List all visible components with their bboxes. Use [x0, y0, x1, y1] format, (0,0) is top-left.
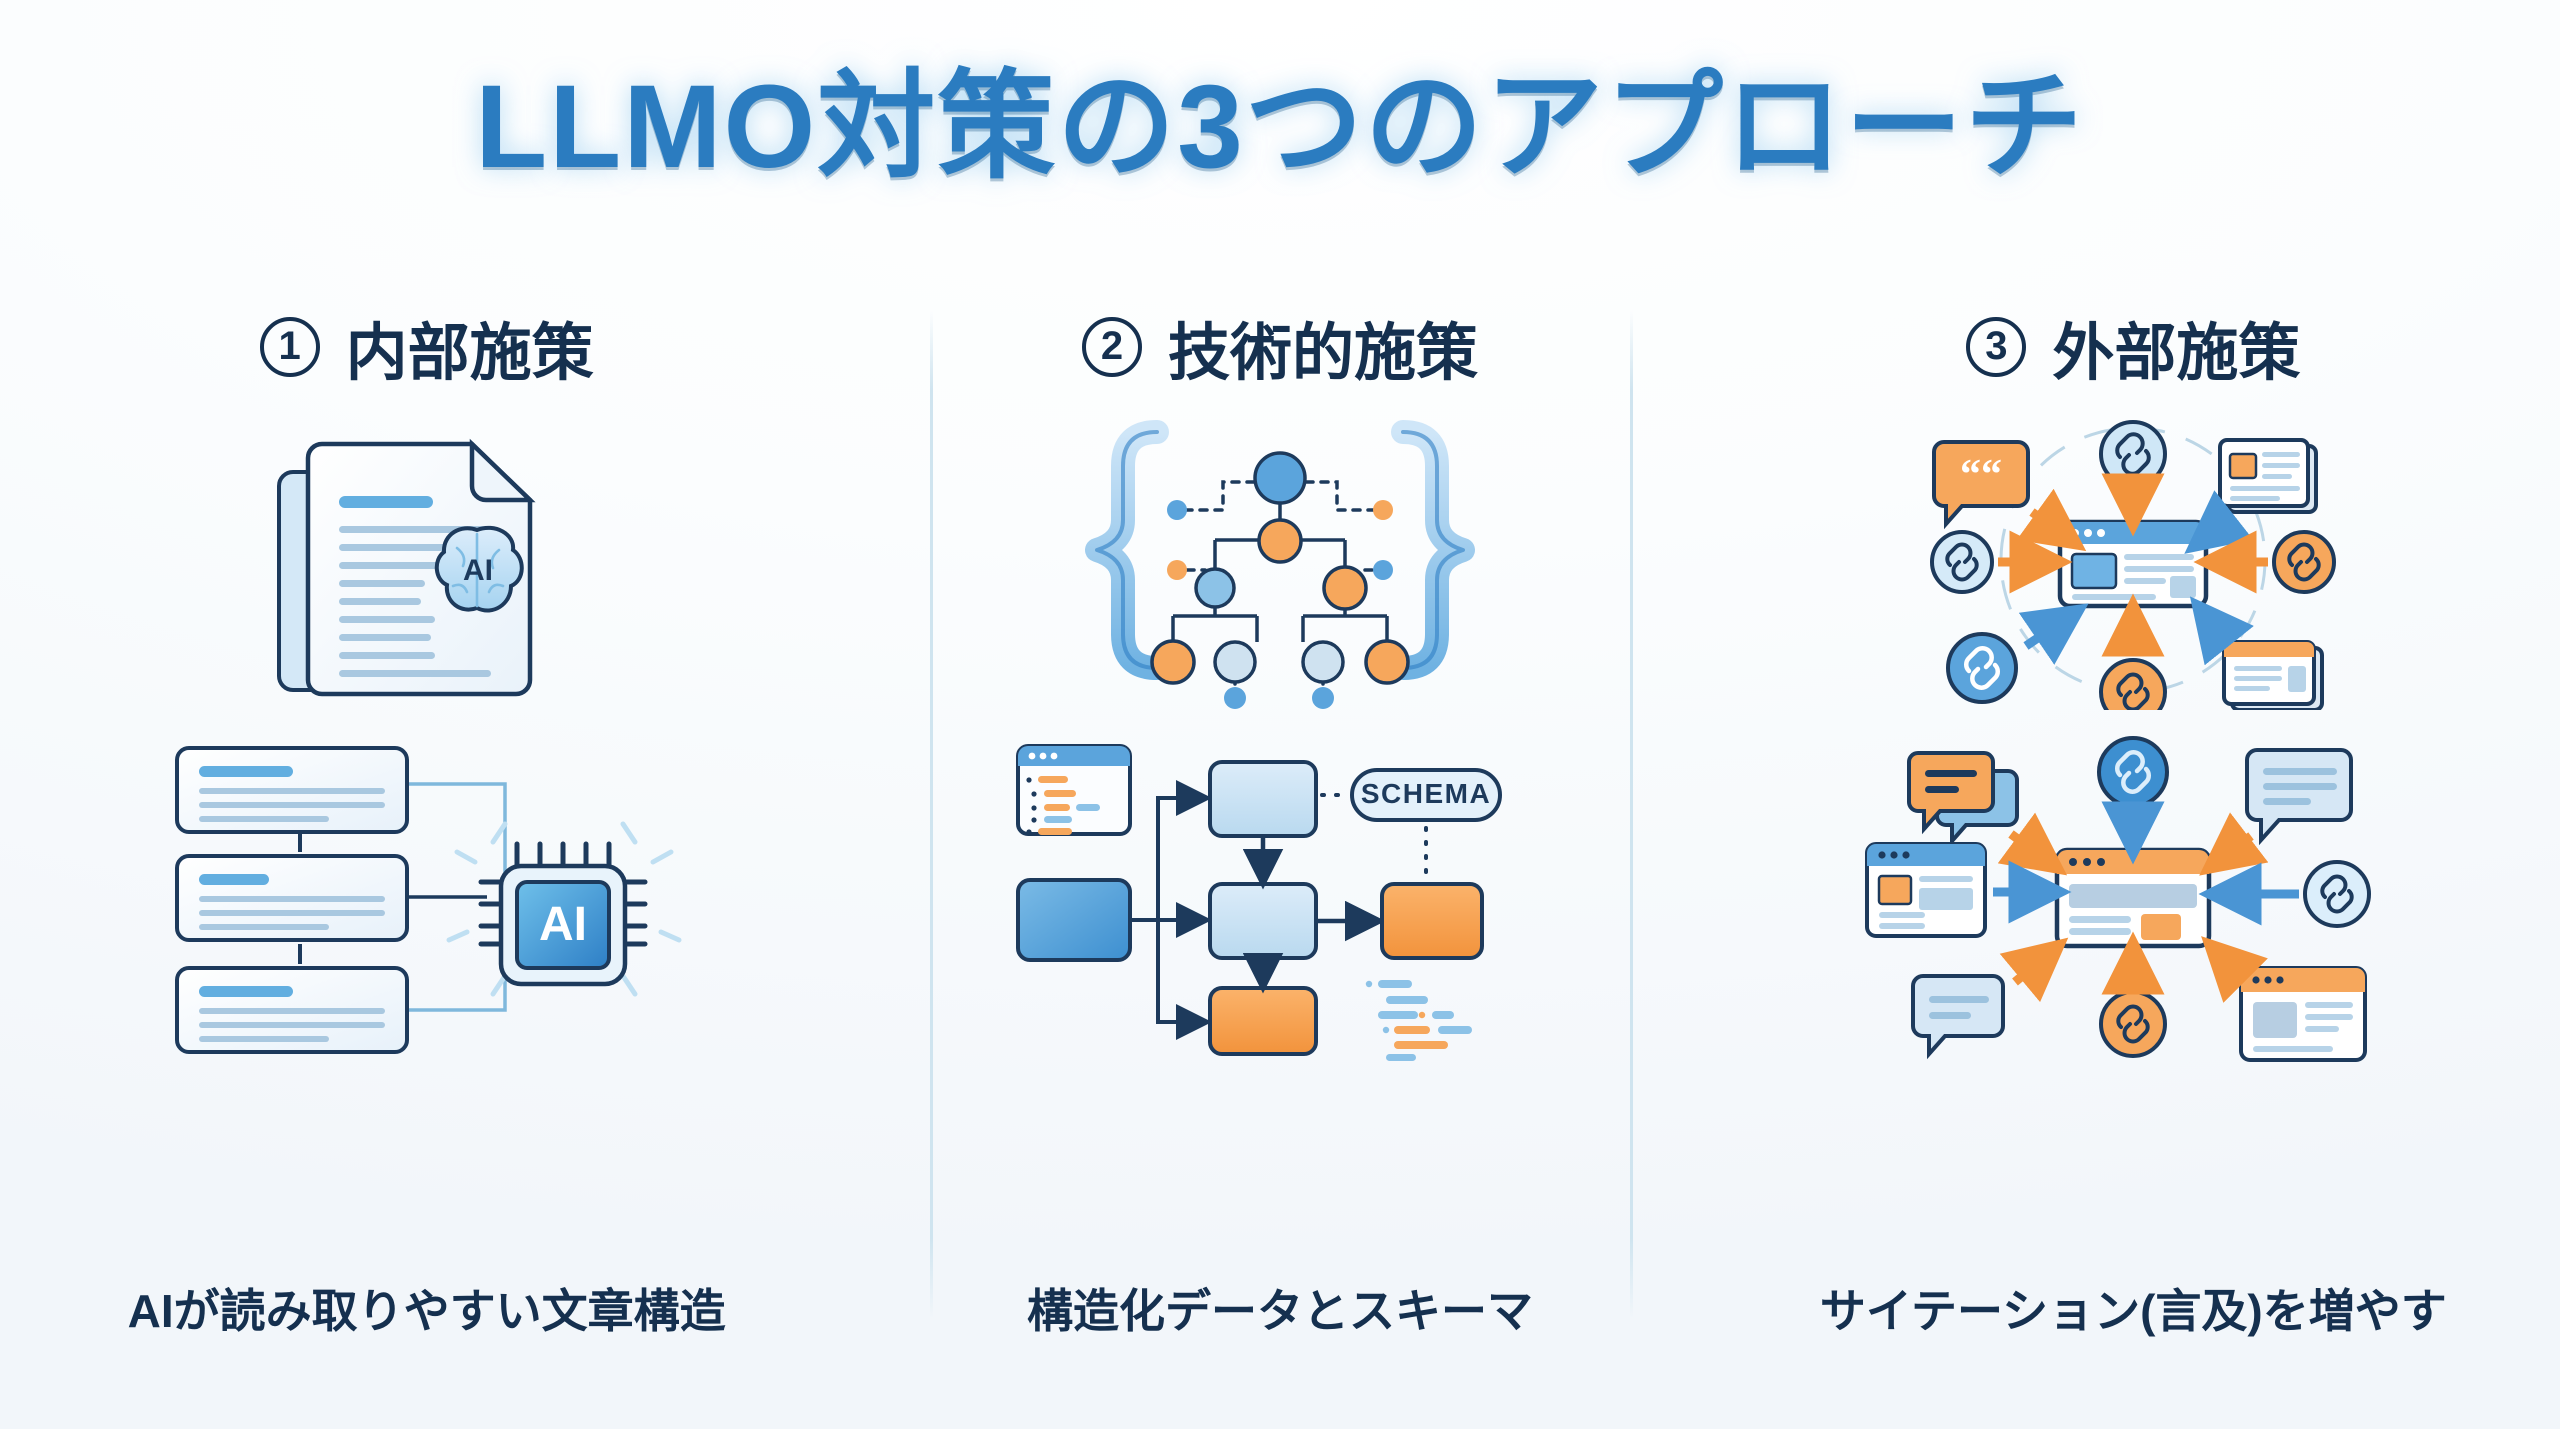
document-ai-brain-icon: AI	[0, 410, 853, 710]
schema-pill-label: SCHEMA	[1361, 778, 1491, 809]
citation-network-svg: ““	[1908, 410, 2358, 710]
column-2-heading: 2 技術的施策	[1082, 312, 1478, 382]
column-technical-measures: 2 技術的施策	[853, 230, 1706, 1429]
column-3-heading: 3 外部施策	[1966, 312, 2300, 382]
citation-network-icon: ““	[1707, 410, 2560, 710]
braces-node-tree-svg	[1065, 410, 1495, 710]
content-blocks-ai-chip-svg: AI	[157, 732, 697, 1062]
document-ai-brain-svg: AI	[217, 410, 637, 710]
schema-flowchart-svg: SCHEMA	[1000, 732, 1560, 1062]
column-3-heading-label: 外部施策	[2052, 302, 2300, 392]
schema-flowchart-icon: SCHEMA	[853, 732, 1706, 1062]
braces-node-tree-icon	[853, 410, 1706, 710]
column-3-caption: サイテーション(言及)を増やす	[1707, 1275, 2560, 1341]
ai-brain-label: AI	[463, 554, 493, 587]
column-2-heading-label: 技術的施策	[1168, 302, 1478, 392]
column-2-caption: 構造化データとスキーマ	[853, 1275, 1706, 1341]
content-blocks-ai-chip-icon: AI	[0, 732, 853, 1062]
column-1-heading-label: 内部施策	[346, 302, 594, 392]
ai-chip-label: AI	[539, 898, 587, 951]
svg-text:““: ““	[1960, 452, 2002, 498]
column-external-measures: 3 外部施策	[1707, 230, 2560, 1429]
column-internal-measures: 1 内部施策	[0, 230, 853, 1429]
backlink-mentions-icon	[1707, 732, 2560, 1062]
page-title: LLMO対策の3つのアプローチ	[475, 30, 2085, 201]
title-bar: LLMO対策の3つのアプローチ	[0, 0, 2560, 230]
column-1-heading: 1 内部施策	[260, 312, 594, 382]
approach-columns: 1 内部施策	[0, 230, 2560, 1429]
column-1-caption: AIが読み取りやすい文章構造	[0, 1275, 853, 1341]
circled-number-2: 2	[1082, 317, 1142, 377]
circled-number-1: 1	[260, 317, 320, 377]
circled-number-3: 3	[1966, 317, 2026, 377]
backlink-mentions-svg	[1853, 732, 2413, 1062]
